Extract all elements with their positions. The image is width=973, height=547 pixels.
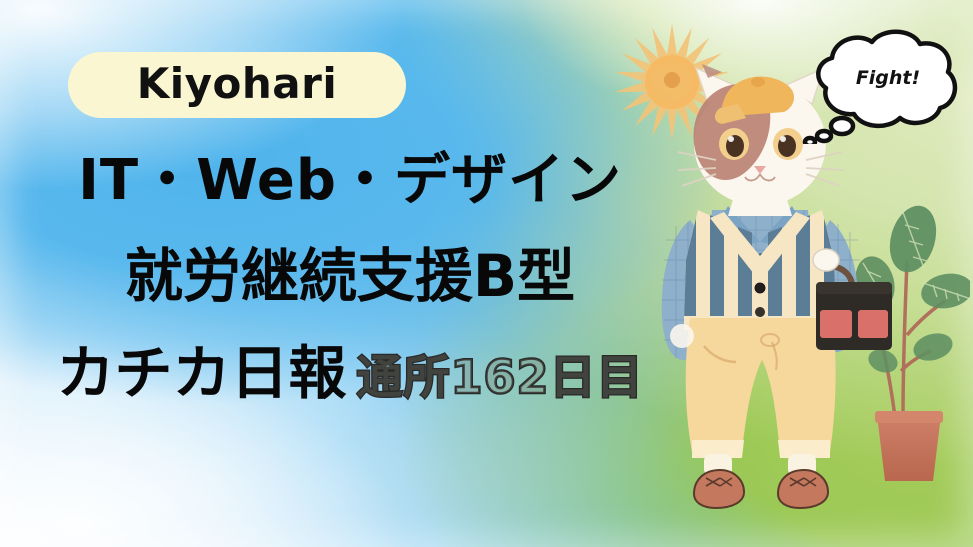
headline-text-block: Kiyohari IT・Web・デザイン 就労継続支援B型 カチカ日報 通所16… [0,0,700,547]
daily-report-label: カチカ日報 [56,344,346,402]
headline-line-2: 就労継続支援B型 [0,247,700,305]
thought-bubble-text: Fight! [856,67,920,89]
youtube-thumbnail-banner: Fight! Kiyohari IT・Web・デザイン 就労継続支援B型 カチカ… [0,0,973,547]
cat-paw-right [813,249,839,271]
headline-line-3: カチカ日報 通所162日目 [0,344,700,402]
cat-trousers [686,318,836,458]
cat-shoes [694,470,828,508]
attendance-day-count: 通所162日目 [356,354,643,400]
brand-name-badge: Kiyohari [68,52,406,118]
thought-bubble: Fight! [796,26,968,144]
headline-line-1: IT・Web・デザイン [0,153,700,209]
brand-name-label: Kiyohari [137,63,338,105]
